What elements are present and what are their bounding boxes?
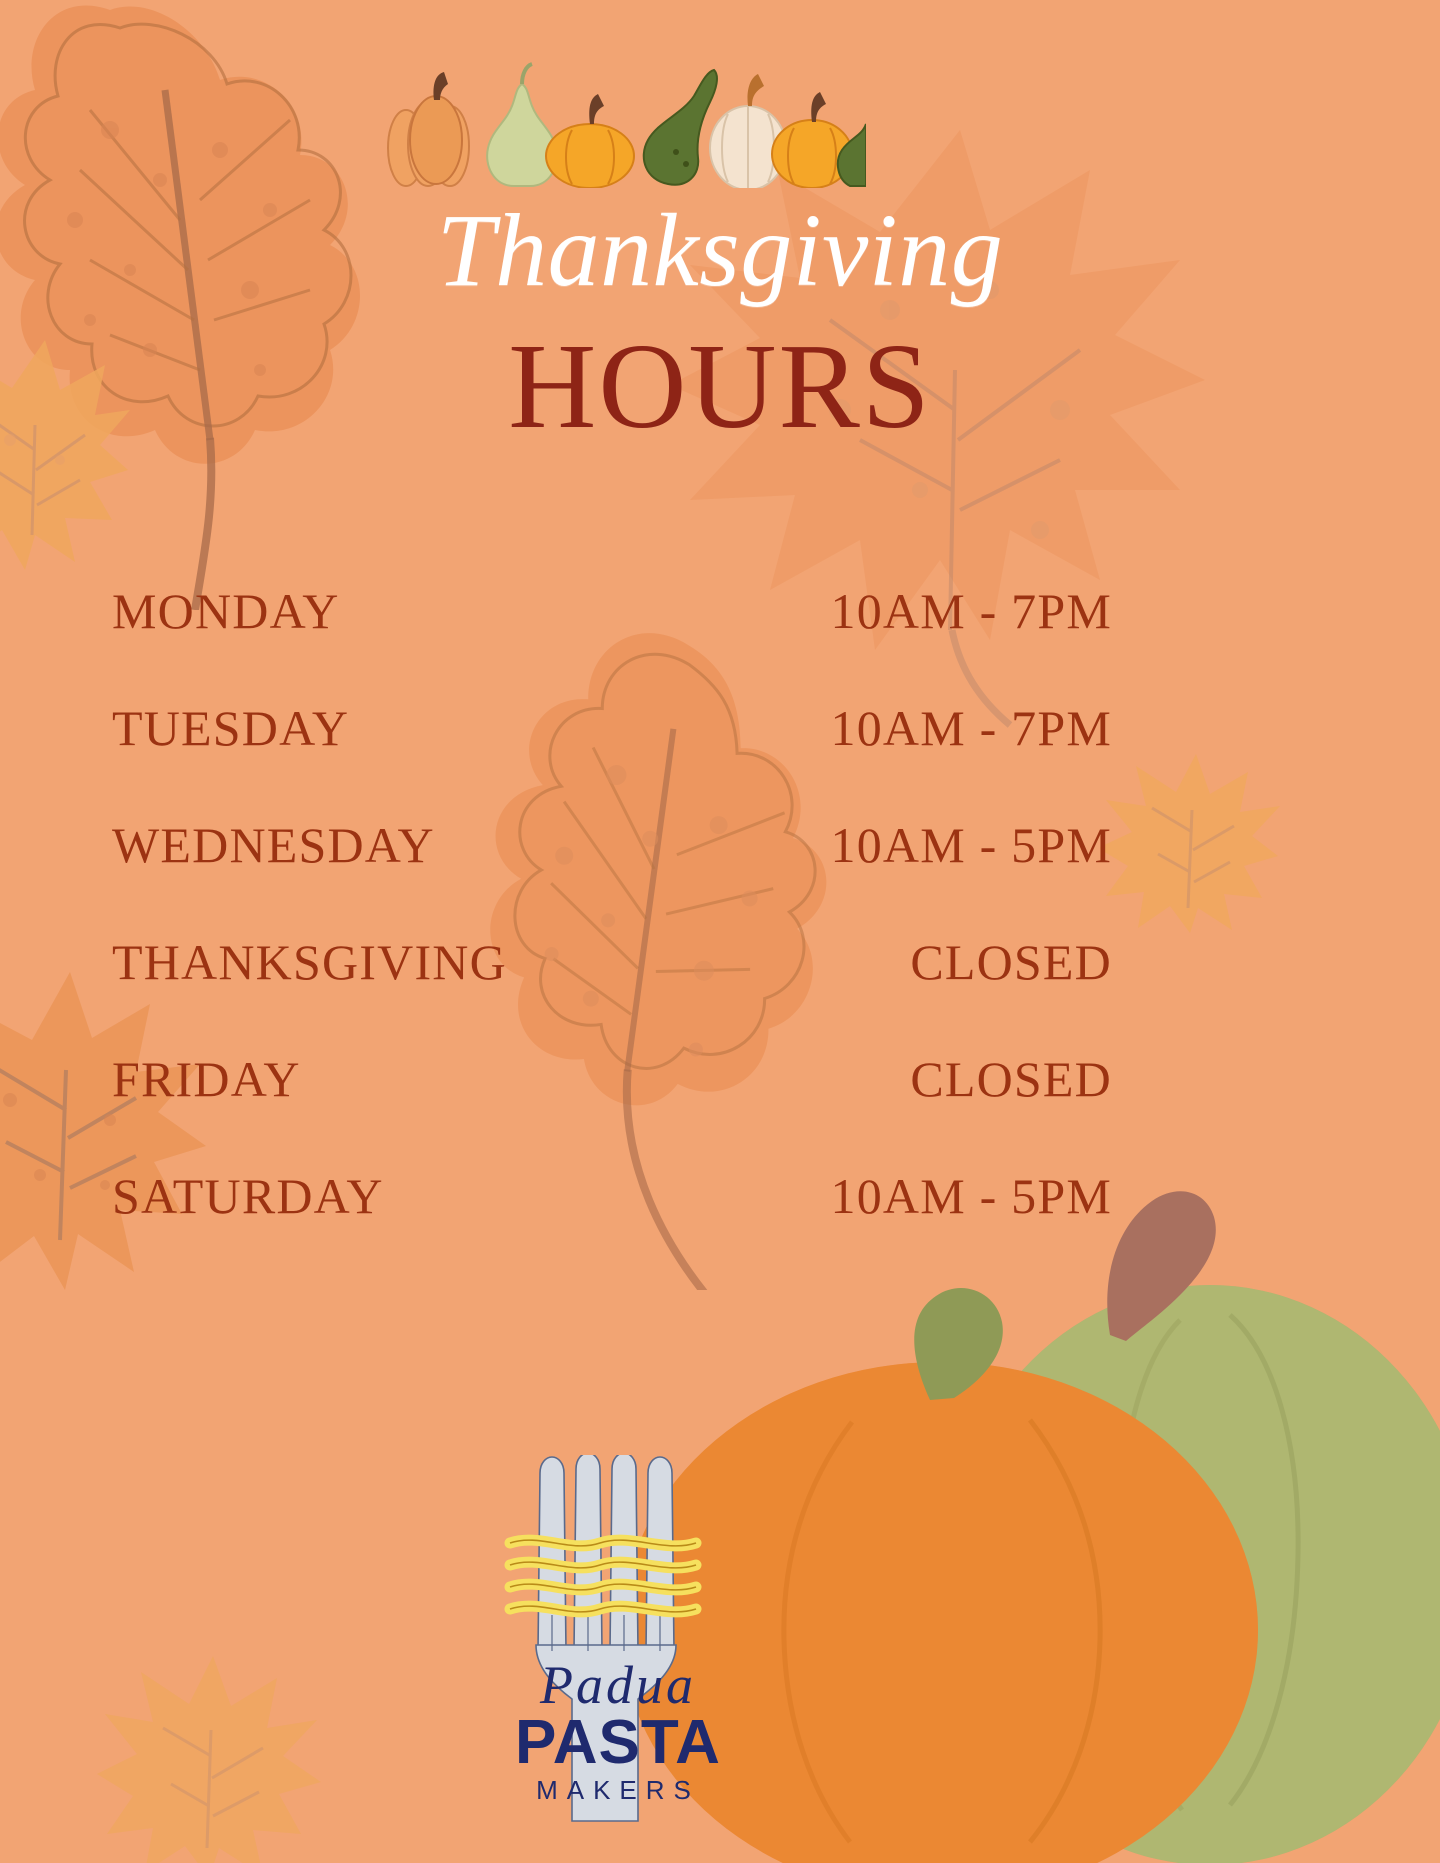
schedule-hours-value: 10AM - 5PM [831, 1167, 1112, 1225]
schedule-day-label: THANKSGIVING [112, 933, 507, 991]
schedule-hours-value: CLOSED [910, 1050, 1112, 1108]
poster-heading-block: Thanksgiving HOURS [0, 196, 1440, 451]
poster-canvas: Thanksgiving HOURS MONDAY 10AM - 7PM TUE… [0, 0, 1440, 1863]
hours-schedule-list: MONDAY 10AM - 7PM TUESDAY 10AM - 7PM WED… [112, 582, 1112, 1284]
padua-pasta-makers-logo: Padua PASTA MAKERS [500, 1455, 735, 1825]
schedule-row: MONDAY 10AM - 7PM [112, 582, 1112, 699]
schedule-row: TUESDAY 10AM - 7PM [112, 699, 1112, 816]
schedule-row: WEDNESDAY 10AM - 5PM [112, 816, 1112, 933]
maple-leaf-bottom-left-icon [95, 1648, 325, 1863]
schedule-day-label: FRIDAY [112, 1050, 301, 1108]
schedule-hours-value: CLOSED [910, 933, 1112, 991]
schedule-row: SATURDAY 10AM - 5PM [112, 1167, 1112, 1284]
schedule-row: THANKSGIVING CLOSED [112, 933, 1112, 1050]
schedule-hours-value: 10AM - 7PM [831, 699, 1112, 757]
pumpkin-row-decoration [376, 48, 866, 188]
logo-script-word: Padua [539, 1655, 696, 1715]
page-title: HOURS [0, 323, 1440, 451]
maple-leaf-right-small-icon [1100, 748, 1285, 933]
logo-sub-word: MAKERS [536, 1775, 700, 1805]
schedule-row: FRIDAY CLOSED [112, 1050, 1112, 1167]
page-title-script: Thanksgiving [0, 196, 1440, 305]
schedule-day-label: WEDNESDAY [112, 816, 435, 874]
schedule-day-label: TUESDAY [112, 699, 349, 757]
schedule-day-label: SATURDAY [112, 1167, 384, 1225]
schedule-hours-value: 10AM - 7PM [831, 582, 1112, 640]
schedule-day-label: MONDAY [112, 582, 340, 640]
schedule-hours-value: 10AM - 5PM [831, 816, 1112, 874]
logo-main-word: PASTA [515, 1708, 721, 1777]
